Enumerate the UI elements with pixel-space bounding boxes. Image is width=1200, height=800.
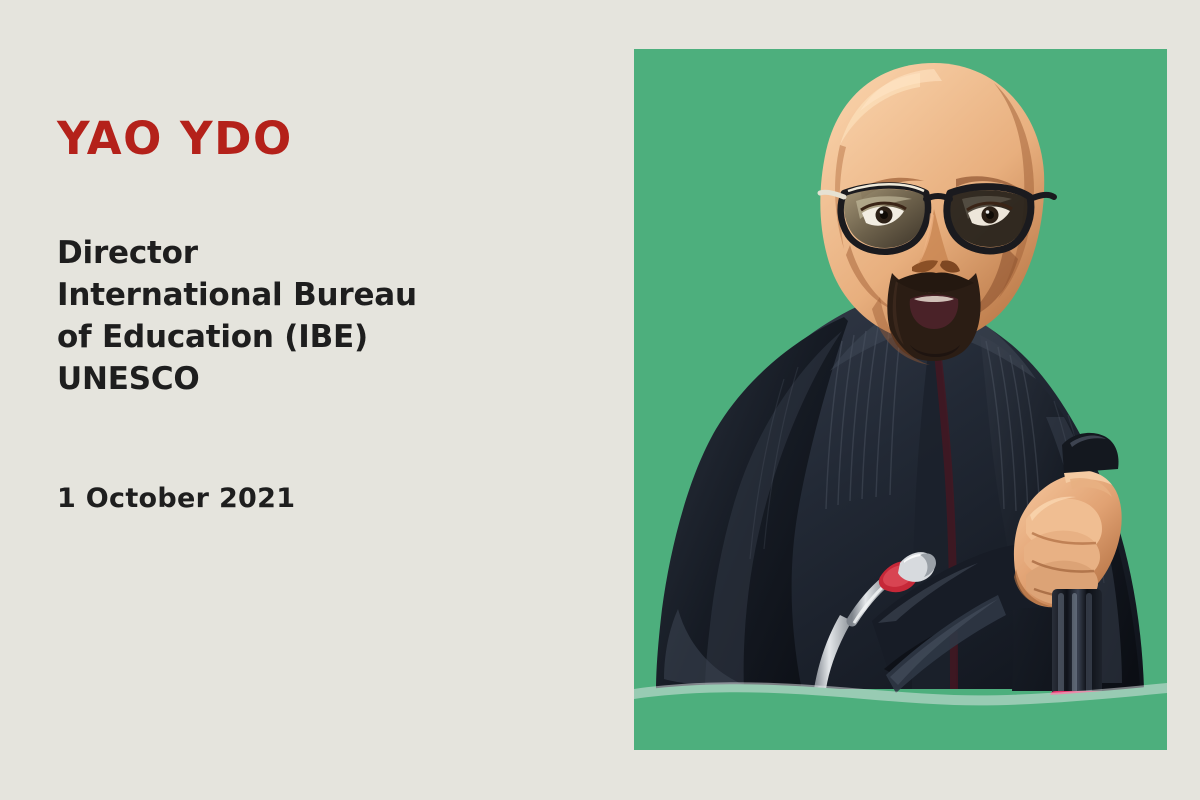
speaker-role-line-3: of Education (IBE) bbox=[57, 316, 527, 358]
speaker-role-line-2: International Bureau bbox=[57, 274, 527, 316]
speaker-date: 1 October 2021 bbox=[57, 485, 295, 512]
speaker-name: YAO YDO bbox=[57, 116, 293, 161]
text-column: YAO YDO Director International Bureau of… bbox=[57, 0, 577, 800]
speaker-slide: YAO YDO Director International Bureau of… bbox=[0, 0, 1200, 800]
speaker-role-line-4: UNESCO bbox=[57, 358, 527, 400]
speaker-portrait-illustration bbox=[634, 49, 1167, 750]
speaker-photo-panel bbox=[634, 49, 1167, 750]
speaker-role-line-1: Director bbox=[57, 232, 527, 274]
speaker-role: Director International Bureau of Educati… bbox=[57, 232, 527, 400]
